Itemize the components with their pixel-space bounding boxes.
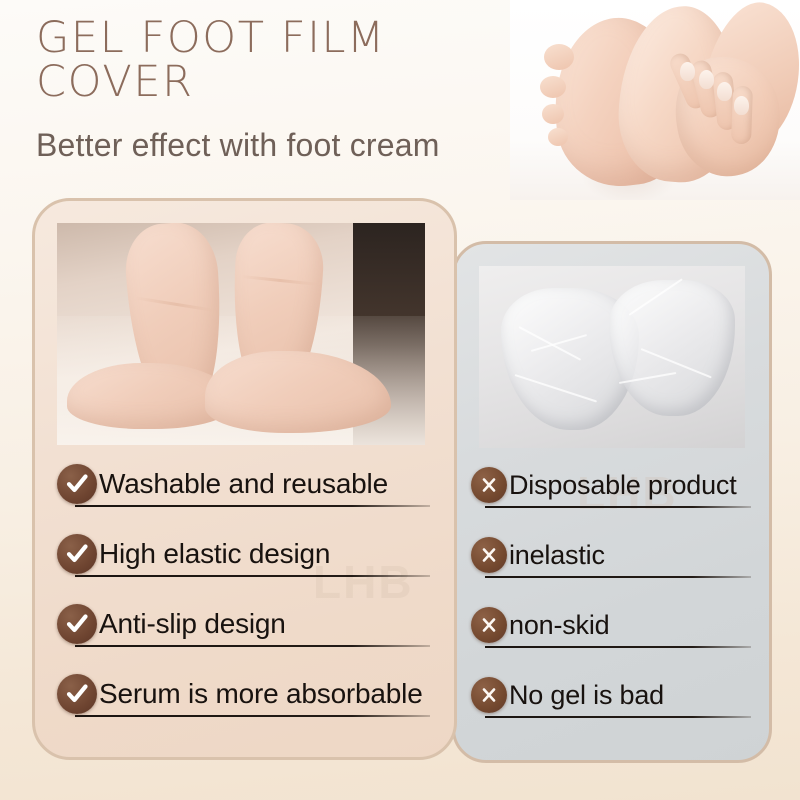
list-item-underline — [75, 645, 430, 647]
list-item-label: Anti-slip design — [99, 608, 286, 640]
list-item-underline — [485, 716, 751, 718]
disposable-booties-photo — [479, 266, 745, 448]
list-item: Disposable product — [471, 450, 751, 520]
fingernail-shape — [734, 96, 749, 115]
check-icon — [57, 604, 97, 644]
list-item: Washable and reusable — [57, 449, 430, 519]
page-title: GEL FOOT FILM COVER — [36, 16, 556, 105]
list-item-underline — [75, 575, 430, 577]
list-item-label: inelastic — [509, 540, 605, 571]
x-icon — [471, 677, 507, 713]
toe-shape — [544, 44, 574, 70]
list-item: High elastic design — [57, 519, 430, 589]
gel-foot-film-cover-panel: LHB Washable and reusable High elastic d… — [32, 198, 457, 760]
toe-shape — [540, 76, 566, 98]
list-item: Anti-slip design — [57, 589, 430, 659]
check-icon — [57, 464, 97, 504]
page-subtitle: Better effect with foot cream — [36, 127, 556, 164]
plastic-bootie-shape — [609, 280, 735, 416]
list-item-label: Washable and reusable — [99, 468, 388, 500]
list-item-underline — [485, 646, 751, 648]
list-item-underline — [485, 506, 751, 508]
fingernail-shape — [717, 82, 732, 101]
gel-cover-feature-list: Washable and reusable High elastic desig… — [35, 449, 454, 729]
fingernail-shape — [699, 70, 714, 89]
list-item: non-skid — [471, 590, 751, 660]
list-item: inelastic — [471, 520, 751, 590]
check-icon — [57, 534, 97, 574]
list-item-underline — [75, 715, 430, 717]
x-icon — [471, 607, 507, 643]
hero-feet-photo — [510, 0, 800, 200]
check-icon — [57, 674, 97, 714]
disposable-cover-feature-list: Disposable product inelastic non-skid — [455, 450, 769, 730]
toe-shape — [542, 104, 564, 124]
list-item-label: Serum is more absorbable — [99, 678, 423, 710]
list-item-label: non-skid — [509, 610, 609, 641]
x-icon — [471, 467, 507, 503]
gel-socks-photo — [57, 223, 425, 445]
header: GEL FOOT FILM COVER Better effect with f… — [36, 16, 556, 164]
list-item: Serum is more absorbable — [57, 659, 430, 729]
list-item: No gel is bad — [471, 660, 751, 730]
list-item-label: No gel is bad — [509, 680, 664, 711]
list-item-underline — [485, 576, 751, 578]
list-item-underline — [75, 505, 430, 507]
fingernail-shape — [680, 62, 695, 81]
list-item-label: Disposable product — [509, 470, 737, 501]
list-item-label: High elastic design — [99, 538, 330, 570]
finger-shape — [731, 86, 753, 145]
disposable-plastic-cover-panel: LHB Disposable product inelastic — [452, 241, 772, 763]
x-icon — [471, 537, 507, 573]
toe-shape — [548, 128, 568, 146]
